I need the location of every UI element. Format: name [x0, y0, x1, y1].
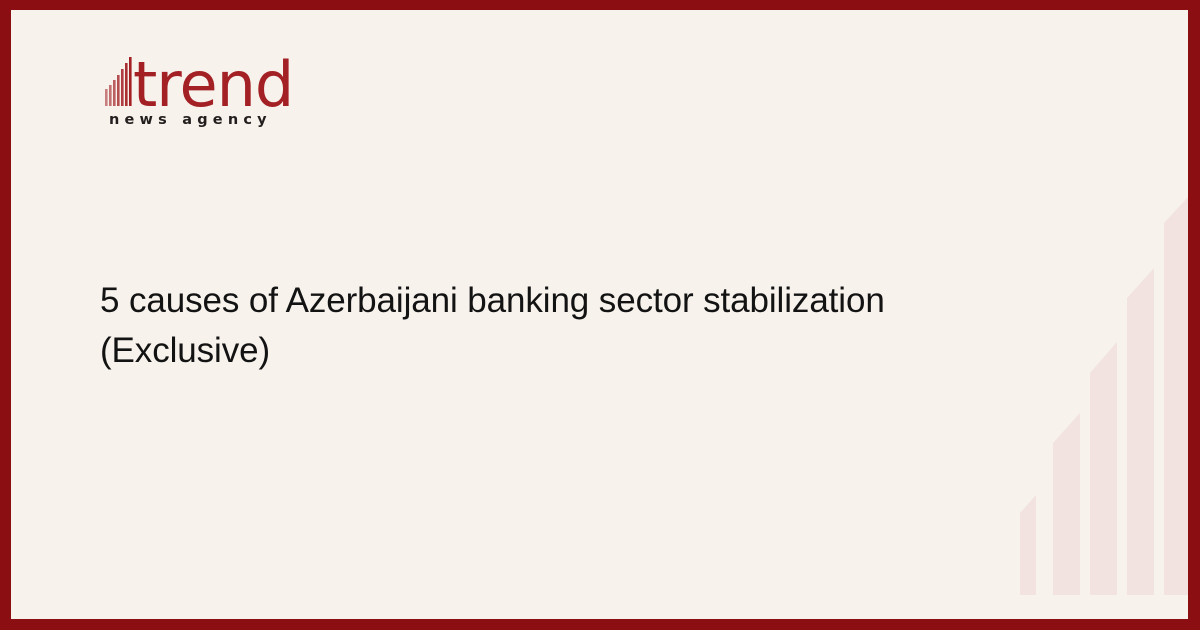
ascending-bars-icon [105, 57, 132, 106]
deco-bar-3 [1090, 342, 1117, 595]
deco-bar-1 [1020, 495, 1036, 595]
deco-bar-4 [1127, 268, 1154, 595]
page-title: 5 causes of Azerbaijani banking sector s… [100, 276, 1045, 376]
share-card: trend news agency 5 causes of Azerbaijan… [0, 0, 1200, 630]
deco-bar-2 [1053, 413, 1080, 595]
ascending-bar-chart-graphic [1020, 165, 1188, 595]
deco-bar-5 [1164, 197, 1188, 595]
svg-text:trend: trend [133, 48, 293, 109]
logo-wordmark: trend [100, 45, 360, 109]
logo-tagline: news agency [109, 112, 272, 128]
trend-logo[interactable]: trend news agency [100, 45, 360, 145]
card-canvas: trend news agency 5 causes of Azerbaijan… [11, 10, 1188, 619]
